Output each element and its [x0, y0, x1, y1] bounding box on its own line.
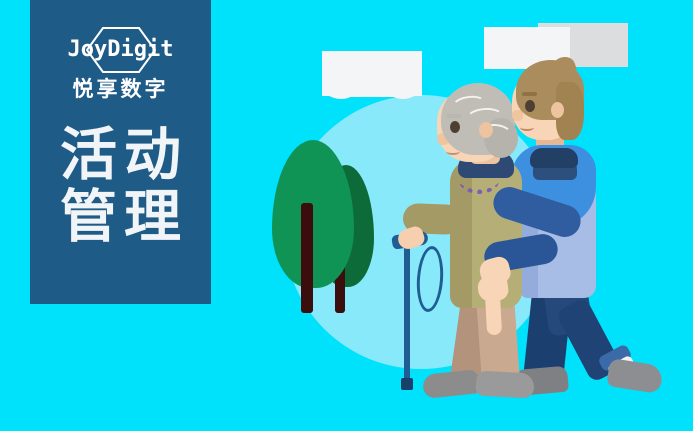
elderly-eyebrow	[447, 114, 461, 118]
caregiver-ear	[551, 102, 564, 118]
title-panel: JoyDigit 悦享数字 活动 管理	[30, 0, 211, 304]
brand-lockup: JoyDigit 悦享数字	[51, 28, 191, 100]
elderly-ear	[479, 122, 493, 138]
elderly-eye	[450, 121, 460, 133]
elderly-mouth	[446, 148, 460, 155]
brand-wordmark: JoyDigit	[68, 39, 174, 61]
elderly-front-shoe	[475, 370, 534, 398]
caregiver-eyebrow	[522, 92, 537, 96]
elderly-front-forearm	[485, 293, 502, 336]
caregiver-eye	[525, 100, 535, 112]
page-title-line-2: 管理	[53, 186, 188, 248]
cloud-left-icon	[322, 51, 422, 96]
caregiver-collar	[530, 148, 578, 168]
poster-canvas: JoyDigit 悦享数字 活动 管理	[0, 0, 693, 431]
brand-mark: JoyDigit	[55, 28, 187, 72]
page-title: 活动 管理	[53, 124, 188, 248]
elderly-necklace	[459, 167, 499, 194]
walking-cane-shaft	[404, 241, 410, 386]
caregiver-mouth	[520, 124, 534, 131]
walking-cane-tip	[401, 378, 413, 390]
brand-chinese-name: 悦享数字	[73, 79, 169, 100]
page-title-line-1: 活动	[53, 124, 188, 186]
tree-front-trunk-icon	[301, 203, 313, 313]
